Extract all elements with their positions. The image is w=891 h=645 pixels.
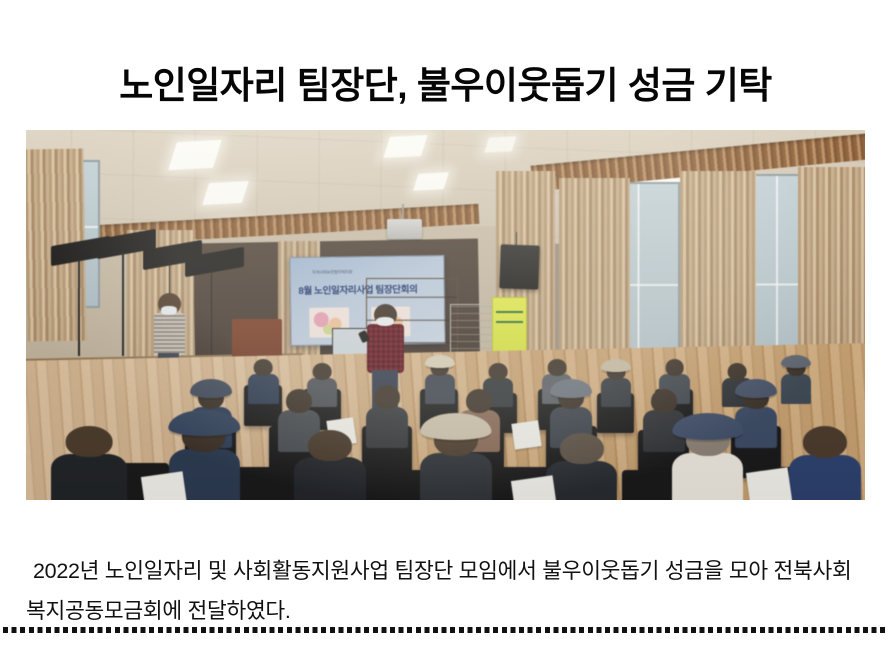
attendee [601, 363, 631, 407]
article-page: 노인일자리 팀장단, 불우이웃돕기 성금 기탁 [0, 0, 891, 645]
photo-scene: 지역사회보장협의체지원 8월 노인일자리사업 팀장단회의 [26, 130, 865, 500]
attendee [366, 385, 408, 448]
handout-paper [511, 421, 541, 450]
attendee [781, 359, 811, 403]
music-stand-pole [78, 260, 80, 356]
attendee [420, 422, 491, 500]
attendee [294, 430, 365, 500]
attendee [425, 359, 455, 403]
attendee [789, 426, 860, 500]
article-photo: 지역사회보장협의체지원 8월 노인일자리사업 팀장단회의 [26, 130, 865, 500]
music-stand-pole [122, 252, 124, 356]
handout-paper [745, 468, 791, 500]
attendee [672, 422, 743, 500]
bottom-divider [3, 627, 888, 633]
page-title: 노인일자리 팀장단, 불우이웃돕기 성금 기탁 [0, 63, 891, 109]
loudspeaker [499, 244, 539, 290]
projector [387, 219, 422, 239]
handout-paper [141, 471, 187, 500]
attendee [51, 426, 127, 500]
ceiling-light [203, 181, 249, 205]
ceiling-light [168, 140, 221, 170]
music-stand-pole [211, 271, 213, 360]
photo-caption: 2022년 노인일자리 및 사회활동지원사업 팀장단 모임에서 불우이웃돕기 성… [26, 551, 865, 631]
projection-screen-subtitle: 지역사회보장협의체지원 [312, 269, 352, 276]
attendee [546, 433, 617, 500]
ceiling-light [413, 172, 449, 191]
ceiling-light [383, 135, 427, 158]
attendee [248, 359, 278, 403]
